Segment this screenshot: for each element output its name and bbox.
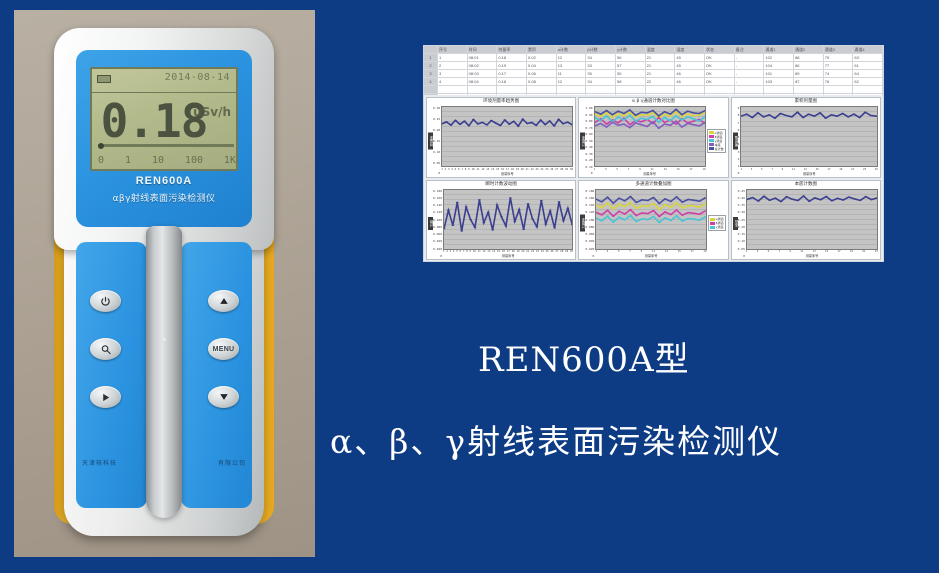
chart-data-point <box>847 116 850 117</box>
spreadsheet-cell[interactable]: 45 <box>675 62 705 69</box>
power-button[interactable] <box>90 290 121 312</box>
spreadsheet-row-header[interactable]: 4 <box>424 78 438 85</box>
spreadsheet-cell[interactable]: 34 <box>586 78 616 85</box>
faceplate-lower-right <box>181 242 252 508</box>
chart-legend-item[interactable]: 总计数 <box>709 147 724 151</box>
chart-data-point <box>640 124 642 125</box>
spreadsheet-cell[interactable] <box>646 86 676 93</box>
chart-data-point <box>663 113 665 114</box>
chart-data-point <box>791 116 794 117</box>
spreadsheet-cell[interactable]: 75 <box>824 54 854 61</box>
chart-data-point <box>617 125 619 126</box>
chart-y-tick: 0.080 <box>433 225 442 229</box>
spreadsheet-cell[interactable]: 通道4 <box>853 46 883 53</box>
chart-data-point <box>676 209 678 210</box>
chart-plot-area: 计数率0.1800.1600.1400.1200.1000.0800.0600.… <box>579 189 727 260</box>
spreadsheet-cell[interactable] <box>586 86 616 93</box>
chart-data-point <box>544 223 547 224</box>
chart-data-point <box>762 195 765 196</box>
spreadsheet-cell[interactable]: 62 <box>853 78 883 85</box>
chart-data-point <box>450 124 453 125</box>
spreadsheet-row-header[interactable]: 2 <box>424 62 438 69</box>
spreadsheet-cell[interactable]: 4 <box>438 78 468 85</box>
chart-top-right[interactable]: 累积剂量图累积值9876543210135791113151719212325测… <box>731 97 881 178</box>
chart-data-point <box>500 216 503 217</box>
spreadsheet-cell[interactable] <box>824 86 854 93</box>
chart-data-point <box>622 115 624 116</box>
spreadsheet-cell[interactable] <box>497 86 527 93</box>
spreadsheet-cell[interactable]: 87 <box>794 78 824 85</box>
spreadsheet-row-header[interactable] <box>424 86 438 93</box>
chart-data-point <box>698 125 700 126</box>
chart-data-point <box>445 121 448 122</box>
chart-data-point <box>566 121 569 122</box>
spreadsheet-cell[interactable]: 21 <box>646 62 676 69</box>
chart-data-point <box>557 119 560 120</box>
chart-data-point <box>780 113 783 114</box>
spreadsheet-cell[interactable]: 序号 <box>438 46 468 53</box>
chart-data-point <box>451 224 454 225</box>
spreadsheet-row[interactable]: 3308:030.170.061135552146OK-101897464 <box>424 70 883 78</box>
chart-data-point <box>870 198 873 199</box>
spreadsheet-row[interactable]: 4408:040.180.081234582246OK-103877662 <box>424 78 883 86</box>
spreadsheet-cell[interactable]: 累积 <box>527 46 557 53</box>
spreadsheet-cell[interactable]: 55 <box>616 70 646 77</box>
chart-data-point <box>757 200 760 201</box>
chart-y-tick: 0.040 <box>433 239 442 243</box>
chart-data-point <box>611 114 613 115</box>
chart-legend-swatch <box>709 147 714 150</box>
spreadsheet-row[interactable] <box>424 86 883 94</box>
chart-data-point <box>444 228 445 229</box>
chart-top-left[interactable]: 环境剂量率趋势图剂量率0.300.250.200.150.100.0501234… <box>426 97 576 178</box>
chart-y-tick: 0.30 <box>585 152 592 156</box>
chart-y-ticks: 0.300.250.200.150.100.050 <box>433 106 441 176</box>
chart-data-point <box>676 215 678 216</box>
chart-y-tick: 0.120 <box>585 210 594 214</box>
spreadsheet-cell[interactable]: 3 <box>438 70 468 77</box>
spreadsheet-header-row[interactable]: 序号时间剂量率累积α计数β计数γ计数温度湿度状态备注通道1通道2通道3通道4 <box>424 46 883 54</box>
spreadsheet-cell[interactable]: 58 <box>616 78 646 85</box>
chart-data-point <box>477 123 480 124</box>
chart-y-tick: 9 <box>738 106 740 110</box>
chart-y-axis-label: 本底 <box>733 217 738 230</box>
chart-data-point <box>692 118 694 119</box>
chart-data-point <box>680 116 682 117</box>
spreadsheet-cell[interactable]: 103 <box>764 78 794 85</box>
spreadsheet-cell[interactable]: 101 <box>764 70 794 77</box>
menu-button[interactable]: MENU <box>208 338 239 360</box>
chart-bottom-left[interactable]: 瞬时计数波动图计数0.1800.1600.1400.1200.1000.0800… <box>426 180 576 261</box>
chart-y-tick: 0.180 <box>585 189 594 193</box>
spreadsheet-row[interactable]: 2208:020.190.041333572145OK-104867761 <box>424 62 883 70</box>
spreadsheet-cell[interactable]: 通道1 <box>764 46 794 53</box>
spreadsheet-row-header[interactable] <box>424 46 438 53</box>
spreadsheet-cell[interactable]: 102 <box>764 54 794 61</box>
spreadsheet-cell[interactable]: 0.02 <box>527 54 557 61</box>
spreadsheet-cell[interactable]: 21 <box>646 70 676 77</box>
chart-plot-wrap: 135791113151719测量序号 <box>594 106 706 176</box>
chart-data-point <box>531 218 534 219</box>
chart-data-point <box>836 116 839 117</box>
product-title-model: REN600A型 <box>478 332 690 381</box>
triangle-up-icon <box>218 296 230 306</box>
spreadsheet-cell[interactable]: 0.08 <box>527 78 557 85</box>
chart-y-tick: 0.10 <box>433 150 440 154</box>
chart-data-point <box>618 210 620 211</box>
chart-data-point <box>482 222 485 223</box>
chart-data-point <box>687 204 689 205</box>
chart-data-point <box>499 125 502 126</box>
chart-data-point <box>491 229 494 230</box>
chart-y-tick: 0.120 <box>433 210 442 214</box>
spreadsheet-cell[interactable]: 76 <box>824 78 854 85</box>
chart-data-point <box>513 121 516 122</box>
chart-x-axis-label: 测量序号 <box>740 171 878 176</box>
chart-plot[interactable] <box>443 189 573 250</box>
chart-y-tick: 0.05 <box>738 247 745 251</box>
chart-data-point <box>757 112 760 113</box>
spreadsheet-cell[interactable]: 状态 <box>705 46 735 53</box>
spreadsheet-cell[interactable]: - <box>735 62 765 69</box>
spreadsheet-cell[interactable]: 0.06 <box>527 70 557 77</box>
spreadsheet-region: 序号时间剂量率累积α计数β计数γ计数温度湿度状态备注通道1通道2通道3通道411… <box>424 46 883 94</box>
chart-y-tick: 0.140 <box>585 203 594 207</box>
spreadsheet-cell[interactable]: 剂量率 <box>497 46 527 53</box>
chart-y-tick: 0.060 <box>433 232 442 236</box>
spreadsheet-cell[interactable]: 64 <box>853 70 883 77</box>
chart-plot[interactable] <box>441 106 573 167</box>
chart-y-axis-label: 剂量率 <box>428 133 433 150</box>
chart-data-point <box>670 206 672 207</box>
spreadsheet-cell[interactable]: 56 <box>616 54 646 61</box>
lcd-scale-1k: 1K <box>224 155 236 166</box>
chart-data-point <box>463 121 466 122</box>
chart-data-point <box>599 120 601 121</box>
spreadsheet-cell[interactable]: OK <box>705 70 735 77</box>
chart-data-point <box>641 218 643 219</box>
chart-data-point <box>645 126 647 127</box>
spreadsheet-cell[interactable]: 12 <box>557 54 587 61</box>
spreadsheet-cell[interactable]: β计数 <box>586 46 616 53</box>
chart-data-point <box>618 203 620 204</box>
chart-data-point <box>601 220 603 221</box>
spreadsheet-cell[interactable]: 33 <box>586 62 616 69</box>
chart-data-point <box>859 117 862 118</box>
spreadsheet-cell[interactable] <box>468 86 498 93</box>
chart-data-point <box>692 115 694 116</box>
chart-data-point <box>664 211 666 212</box>
chart-data-point <box>768 114 771 115</box>
chart-data-point <box>796 199 799 200</box>
chart-data-point <box>628 112 630 113</box>
chart-data-point <box>611 122 613 123</box>
chart-data-point <box>681 220 683 221</box>
spreadsheet-cell[interactable]: 46 <box>675 70 705 77</box>
chart-data-point <box>670 213 672 214</box>
chart-bottom-middle[interactable]: 多通道计数叠加图计数率0.1800.1600.1400.1200.1000.08… <box>578 180 728 261</box>
chart-title: 环境剂量率趋势图 <box>427 98 575 106</box>
chart-data-point <box>599 113 601 114</box>
chart-data-point <box>641 199 643 200</box>
spreadsheet-cell[interactable]: 备注 <box>735 46 765 53</box>
chart-data-point <box>454 120 457 121</box>
chart-plot[interactable] <box>746 189 878 250</box>
chart-legend-label: γ通道 <box>716 225 724 229</box>
chart-data-point <box>624 206 626 207</box>
chart-data-point <box>842 199 845 200</box>
up-button[interactable] <box>208 290 239 312</box>
spreadsheet-cell[interactable]: 0.17 <box>497 70 527 77</box>
spreadsheet-cell[interactable]: 22 <box>646 78 676 85</box>
chart-data-point <box>628 115 630 116</box>
spreadsheet-cell[interactable]: - <box>735 70 765 77</box>
spreadsheet-cell[interactable]: 1 <box>438 54 468 61</box>
chart-data-point <box>478 199 481 200</box>
chart-plot[interactable] <box>594 106 706 167</box>
chart-data-point <box>808 114 811 115</box>
lcd-scale-0: 0 <box>98 155 104 166</box>
spreadsheet-cell[interactable]: 63 <box>853 54 883 61</box>
chart-data-point <box>808 200 811 201</box>
chart-data-point <box>634 115 636 116</box>
chart-data-point <box>836 197 839 198</box>
chart-data-point <box>571 224 572 225</box>
chart-data-point <box>496 204 499 205</box>
spreadsheet-cell[interactable]: 89 <box>794 70 824 77</box>
product-photo: 2014-08-14 0.18 uSv/h 0 1 10 100 1K REN6… <box>14 10 315 557</box>
chart-legend[interactable]: α通道β通道γ通道本底总计数 <box>707 129 726 153</box>
chart-data-point <box>536 226 539 227</box>
chart-y-tick: 0.20 <box>585 158 592 162</box>
spreadsheet-cell[interactable]: 时间 <box>468 46 498 53</box>
chart-top-middle[interactable]: α β γ通道计数对比图计数率1.000.900.800.700.600.500… <box>578 97 728 178</box>
spreadsheet-cell[interactable]: 通道3 <box>824 46 854 53</box>
spreadsheet-cell[interactable]: 57 <box>616 62 646 69</box>
spreadsheet-cell[interactable] <box>764 86 794 93</box>
spreadsheet-cell[interactable] <box>616 86 646 93</box>
device-brand-sublabel: αβγ射线表面污染检测仪 <box>76 191 252 204</box>
spreadsheet-cell[interactable] <box>853 86 883 93</box>
spreadsheet-cell[interactable]: 08:01 <box>468 54 498 61</box>
chart-plot-wrap: 1234567891011121314151617181920212223242… <box>443 189 573 259</box>
chart-data-point <box>599 116 601 117</box>
chart-data-point <box>657 122 659 123</box>
spreadsheet-cell[interactable]: 12 <box>557 78 587 85</box>
down-button[interactable] <box>208 386 239 408</box>
spreadsheet-cell[interactable]: 74 <box>824 70 854 77</box>
play-button[interactable] <box>90 386 121 408</box>
spreadsheet-cell[interactable]: 35 <box>586 70 616 77</box>
chart-data-point <box>549 210 552 211</box>
spreadsheet-cell[interactable] <box>705 86 735 93</box>
chart-y-tick: 0.30 <box>738 210 745 214</box>
chart-data-point <box>819 112 822 113</box>
spreadsheet-cell[interactable] <box>675 86 705 93</box>
spreadsheet-cell[interactable]: 77 <box>824 62 854 69</box>
chart-y-tick: 1.00 <box>585 106 592 110</box>
spreadsheet-row[interactable]: 1108:010.180.021234562145OK-102887563 <box>424 54 883 62</box>
chart-y-tick: 0.70 <box>585 126 592 130</box>
spreadsheet-cell[interactable]: 08:03 <box>468 70 498 77</box>
chart-data-point <box>651 112 653 113</box>
chart-data-point <box>802 195 805 196</box>
chart-data-point <box>531 122 534 123</box>
chart-data-point <box>785 115 788 116</box>
chart-bottom-right[interactable]: 本底计数图本底0.450.400.350.300.250.200.150.100… <box>731 180 881 261</box>
chart-data-point <box>663 122 665 123</box>
spreadsheet-cell[interactable] <box>794 86 824 93</box>
chart-data-point <box>607 215 609 216</box>
spreadsheet-cell[interactable]: 21 <box>646 54 676 61</box>
spreadsheet-cell[interactable]: 11 <box>557 70 587 77</box>
chart-data-point <box>699 206 701 207</box>
chart-data-point <box>658 215 660 216</box>
chart-data-point <box>791 198 794 199</box>
lcd-scale-100: 100 <box>185 155 203 166</box>
chart-series-line <box>596 209 705 216</box>
chart-data-point <box>698 113 700 114</box>
spreadsheet-cell[interactable]: 0.19 <box>497 62 527 69</box>
chart-data-point <box>664 204 666 205</box>
spreadsheet-cell[interactable]: 湿度 <box>675 46 705 53</box>
chart-y-axis-label: 累积值 <box>733 133 738 150</box>
battery-icon <box>97 75 111 83</box>
chart-y-tick: 0.25 <box>433 117 440 121</box>
chart-data-point <box>641 212 643 213</box>
chart-y-axis-label: 计数 <box>428 217 433 230</box>
spreadsheet-cell[interactable]: 46 <box>675 78 705 85</box>
chart-data-point <box>779 200 782 201</box>
chart-y-tick: 6 <box>738 128 740 132</box>
chart-title: α β γ通道计数对比图 <box>579 98 727 106</box>
chart-data-point <box>680 119 682 120</box>
spreadsheet-cell[interactable] <box>735 86 765 93</box>
chart-plot-wrap: 135791113151719测量序号 <box>595 189 706 259</box>
spreadsheet-cell[interactable]: 61 <box>853 62 883 69</box>
slide-root: 2014-08-14 0.18 uSv/h 0 1 10 100 1K REN6… <box>0 0 939 573</box>
spreadsheet-cell[interactable]: 88 <box>794 54 824 61</box>
chart-data-point <box>819 199 822 200</box>
chart-data-point <box>647 199 649 200</box>
chart-data-point <box>768 199 771 200</box>
chart-plot[interactable] <box>740 106 878 167</box>
spreadsheet-cell[interactable]: OK <box>705 78 735 85</box>
spreadsheet-cell[interactable]: 通道2 <box>794 46 824 53</box>
chart-data-point <box>612 221 614 222</box>
spreadsheet-row-header[interactable]: 1 <box>424 54 438 61</box>
chart-y-tick: 0 <box>585 254 594 258</box>
spreadsheet-cell[interactable]: 34 <box>586 54 616 61</box>
spreadsheet-cell[interactable]: 08:04 <box>468 78 498 85</box>
lcd-display: 2014-08-14 0.18 uSv/h 0 1 10 100 1K <box>90 67 238 171</box>
spreadsheet-cell[interactable]: OK <box>705 62 735 69</box>
spreadsheet-row-header[interactable]: 3 <box>424 70 438 77</box>
chart-data-point <box>630 214 632 215</box>
chart-data-point <box>669 125 671 126</box>
chart-y-tick: 0.50 <box>585 139 592 143</box>
chart-data-point <box>617 110 619 111</box>
chart-plot-wrap: 135791113151719212325测量序号 <box>740 106 878 176</box>
chart-data-point <box>864 196 867 197</box>
chart-data-point <box>630 195 632 196</box>
chart-legend-item[interactable]: γ通道 <box>710 225 724 229</box>
chart-y-tick: 0.10 <box>738 239 745 243</box>
chart-data-point <box>535 125 538 126</box>
spreadsheet-cell[interactable]: 温度 <box>646 46 676 53</box>
spreadsheet-cell[interactable]: 0.18 <box>497 78 527 85</box>
chart-data-point <box>693 199 695 200</box>
chart-data-point <box>676 202 678 203</box>
spreadsheet-cell[interactable]: OK <box>705 54 735 61</box>
chart-y-axis-label: 计数率 <box>580 215 585 232</box>
chart-data-point <box>624 200 626 201</box>
chart-y-tick: 0.15 <box>738 232 745 236</box>
chart-plot-area: 累积值9876543210135791113151719212325测量序号 <box>732 106 880 177</box>
chart-plot-wrap: 1234567891011121314151617181920212223242… <box>441 106 573 176</box>
chart-data-point <box>686 123 688 124</box>
chart-y-tick: 0 <box>738 171 740 175</box>
chart-y-tick: 0.020 <box>433 247 442 251</box>
chart-legend[interactable]: α通道β通道γ通道 <box>708 215 726 231</box>
spreadsheet-cell[interactable] <box>527 86 557 93</box>
chart-data-point <box>681 201 683 202</box>
chart-data-point <box>658 208 660 209</box>
chart-data-point <box>607 202 609 203</box>
spreadsheet-cell[interactable]: 08:02 <box>468 62 498 69</box>
chart-data-point <box>566 207 569 208</box>
spreadsheet-cell[interactable]: 86 <box>794 62 824 69</box>
chart-data-point <box>686 116 688 117</box>
chart-data-point <box>599 123 601 124</box>
chart-data-point <box>553 227 556 228</box>
chart-data-point <box>522 119 525 120</box>
chart-legend-swatch <box>710 226 715 229</box>
spreadsheet-cell[interactable]: - <box>735 54 765 61</box>
chart-data-point <box>663 111 665 112</box>
chart-data-point <box>558 201 561 202</box>
chart-data-point <box>751 117 754 118</box>
spreadsheet-cell[interactable]: 0.04 <box>527 62 557 69</box>
spreadsheet-cell[interactable]: - <box>735 78 765 85</box>
spreadsheet-cell[interactable]: 104 <box>764 62 794 69</box>
chart-data-point <box>601 201 603 202</box>
spreadsheet-cell[interactable] <box>557 86 587 93</box>
chart-data-point <box>647 212 649 213</box>
lcd-bargraph-axis <box>98 144 234 147</box>
spreadsheet-cell[interactable]: 13 <box>557 62 587 69</box>
chart-data-point <box>670 219 672 220</box>
spreadsheet-cell[interactable]: 0.18 <box>497 54 527 61</box>
chart-data-point <box>601 214 603 215</box>
chart-data-point <box>607 196 609 197</box>
lcd-unit-label: uSv/h <box>193 105 231 119</box>
search-button[interactable] <box>90 338 121 360</box>
spreadsheet-cell[interactable]: γ计数 <box>616 46 646 53</box>
chart-title: 多通道计数叠加图 <box>579 181 727 189</box>
chart-data-point <box>687 211 689 212</box>
spreadsheet-cell[interactable] <box>438 86 468 93</box>
spreadsheet-cell[interactable]: α计数 <box>557 46 587 53</box>
spreadsheet-cell[interactable]: 2 <box>438 62 468 69</box>
spreadsheet-cell[interactable]: 45 <box>675 54 705 61</box>
chart-y-tick: 0.45 <box>738 189 745 193</box>
chart-data-point <box>864 112 867 113</box>
faceplate-lower-left <box>76 242 147 508</box>
chart-data-point <box>605 115 607 116</box>
chart-plot[interactable] <box>595 189 706 250</box>
chart-data-point <box>469 218 472 219</box>
